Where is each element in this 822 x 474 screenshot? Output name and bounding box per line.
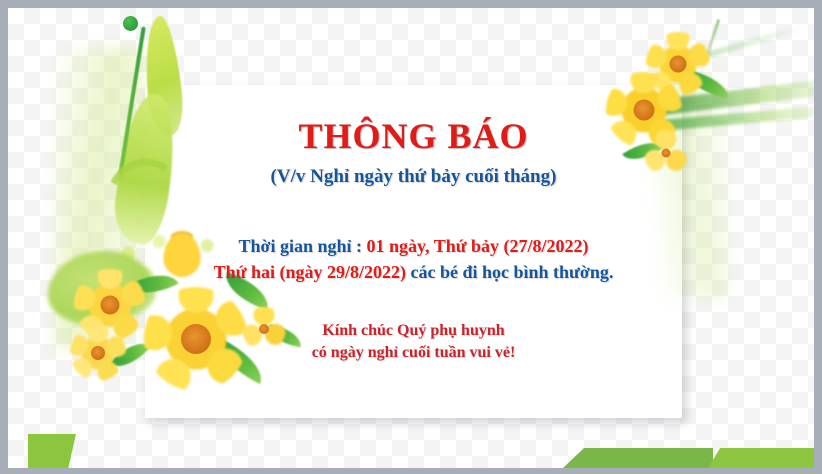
flower-core-icon <box>670 56 687 73</box>
ribbon-segment-right <box>708 448 814 468</box>
ribbon-segment-left <box>28 434 76 468</box>
flower-core-icon <box>101 296 120 315</box>
ribbon-segment-middle <box>563 448 713 468</box>
stem-icon <box>699 19 720 77</box>
image-canvas: THÔNG BÁO (V/v Nghỉ ngày thứ bảy cuối th… <box>0 0 822 474</box>
flower-core-icon <box>91 346 105 360</box>
flower-icon <box>70 325 126 381</box>
leaf-icon <box>682 69 731 98</box>
green-band-icon <box>662 23 808 70</box>
notice-card <box>145 85 682 418</box>
foliage-blob-icon <box>48 251 156 325</box>
left-green-wash <box>54 48 146 348</box>
flower-icon <box>74 269 146 341</box>
stem-icon <box>118 27 145 176</box>
flower-petals-icon <box>74 269 146 341</box>
bottom-green-ribbon <box>8 434 814 468</box>
transparency-checkerboard-background: THÔNG BÁO (V/v Nghỉ ngày thứ bảy cuối th… <box>8 8 814 468</box>
flower-petals-icon <box>70 325 126 381</box>
bud-icon <box>123 16 138 31</box>
